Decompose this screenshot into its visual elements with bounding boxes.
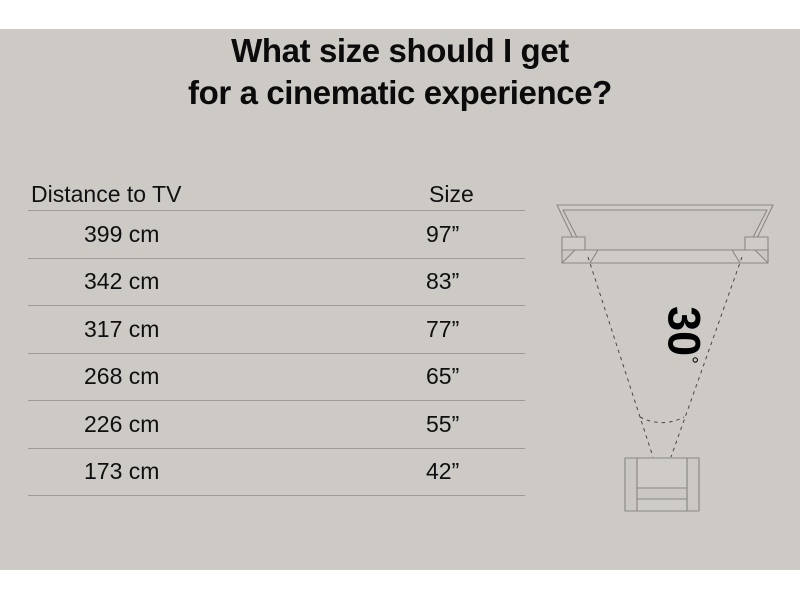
cell-distance: 342 cm <box>28 268 426 295</box>
sight-line-right <box>671 257 742 457</box>
cell-size: 55” <box>426 411 525 438</box>
page-title-line-2: for a cinematic experience? <box>0 72 800 114</box>
cell-size: 97” <box>426 221 525 248</box>
cell-size: 77” <box>426 316 525 343</box>
cell-size: 83” <box>426 268 525 295</box>
angle-arc <box>640 417 684 423</box>
page-title: What size should I get for a cinematic e… <box>0 30 800 114</box>
cell-size: 65” <box>426 363 525 390</box>
viewing-angle-diagram-svg <box>540 185 790 525</box>
cell-distance: 173 cm <box>28 458 426 485</box>
table-row: 268 cm 65” <box>28 353 525 401</box>
viewing-angle-diagram <box>540 185 790 525</box>
column-header-distance: Distance to TV <box>28 181 429 208</box>
cell-distance: 399 cm <box>28 221 426 248</box>
tv-size-guide-screen: What size should I get for a cinematic e… <box>0 0 800 600</box>
table-row: 173 cm 42” <box>28 448 525 497</box>
table-row: 399 cm 97” <box>28 210 525 258</box>
cell-size: 42” <box>426 458 525 485</box>
sight-line-left <box>588 257 653 457</box>
column-header-size: Size <box>429 181 525 208</box>
table-row: 342 cm 83” <box>28 258 525 306</box>
cell-distance: 226 cm <box>28 411 426 438</box>
television-icon <box>557 205 773 263</box>
table-row: 226 cm 55” <box>28 400 525 448</box>
page-title-line-1: What size should I get <box>0 30 800 72</box>
table-row: 317 cm 77” <box>28 305 525 353</box>
cell-distance: 317 cm <box>28 316 426 343</box>
table-header-row: Distance to TV Size <box>28 160 525 210</box>
size-table: Distance to TV Size 399 cm 97” 342 cm 83… <box>28 160 525 496</box>
viewing-cone-lines <box>588 257 742 457</box>
cell-distance: 268 cm <box>28 363 426 390</box>
sofa-icon <box>625 458 699 511</box>
